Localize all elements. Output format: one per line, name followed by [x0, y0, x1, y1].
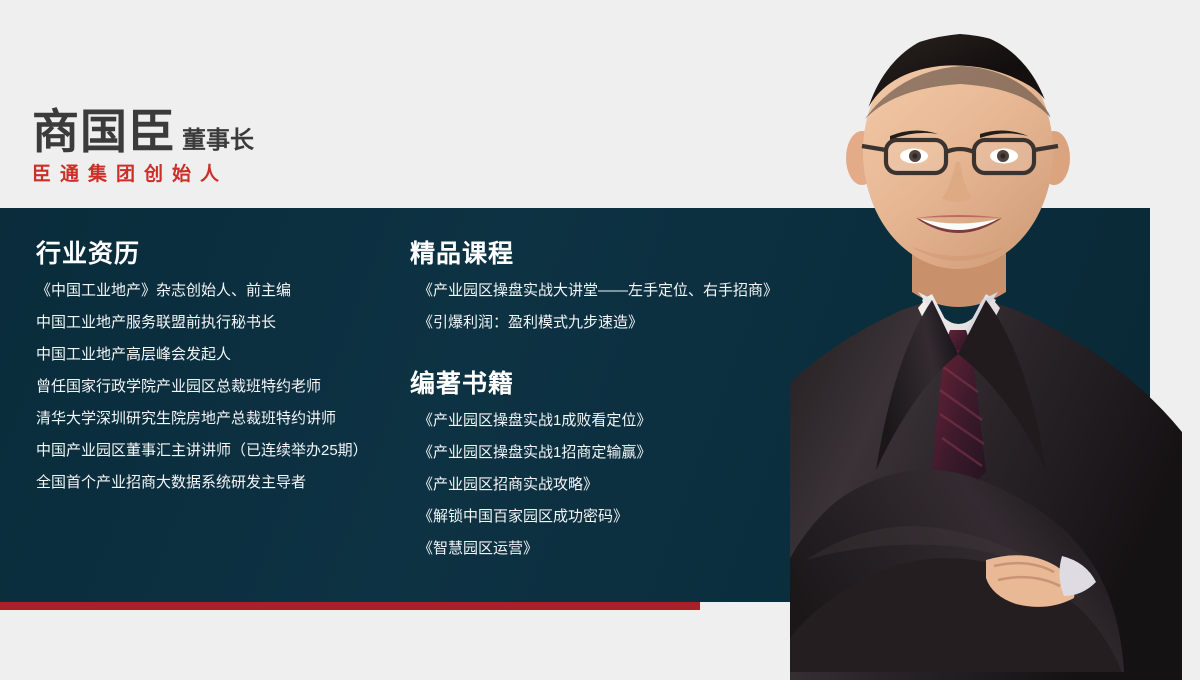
list-item: 《产业园区操盘实战大讲堂——左手定位、右手招商》 [410, 283, 820, 298]
name-block: 商国臣 董事长 臣通集团创始人 [32, 108, 452, 184]
list-item: 曾任国家行政学院产业园区总裁班特约老师 [36, 379, 400, 394]
info-panel: 行业资历 《中国工业地产》杂志创始人、前主编 中国工业地产服务联盟前执行秘书长 … [0, 208, 1150, 602]
list-item: 《中国工业地产》杂志创始人、前主编 [36, 283, 400, 298]
list-item: 《智慧园区运营》 [410, 541, 820, 556]
courses-list: 《产业园区操盘实战大讲堂——左手定位、右手招商》 《引爆利润：盈利模式九步速造》 [410, 283, 820, 330]
list-item: 中国工业地产服务联盟前执行秘书长 [36, 315, 400, 330]
list-item: 《产业园区招商实战攻略》 [410, 477, 820, 492]
books-list: 《产业园区操盘实战1成败看定位》 《产业园区操盘实战1招商定输赢》 《产业园区招… [410, 413, 820, 556]
list-item: 中国工业地产高层峰会发起人 [36, 347, 400, 362]
credentials-heading: 行业资历 [36, 234, 400, 270]
column-courses-books: 精品课程 《产业园区操盘实战大讲堂——左手定位、右手招商》 《引爆利润：盈利模式… [400, 208, 820, 602]
list-item: 《产业园区操盘实战1招商定输赢》 [410, 445, 820, 460]
courses-heading: 精品课程 [410, 234, 820, 270]
person-name: 商国臣 [32, 108, 176, 155]
list-item: 《产业园区操盘实战1成败看定位》 [410, 413, 820, 428]
company-founder-subtitle: 臣通集团创始人 [32, 165, 452, 184]
list-item: 《解锁中国百家园区成功密码》 [410, 509, 820, 524]
list-item: 中国产业园区董事汇主讲讲师（已连续举办25期） [36, 443, 400, 458]
name-row: 商国臣 董事长 [32, 108, 452, 155]
panel-columns: 行业资历 《中国工业地产》杂志创始人、前主编 中国工业地产服务联盟前执行秘书长 … [0, 208, 820, 602]
books-heading: 编著书籍 [410, 364, 820, 400]
list-item: 全国首个产业招商大数据系统研发主导者 [36, 475, 400, 490]
credentials-list: 《中国工业地产》杂志创始人、前主编 中国工业地产服务联盟前执行秘书长 中国工业地… [36, 283, 400, 490]
person-role-title: 董事长 [182, 129, 254, 153]
banner-stage: 商国臣 董事长 臣通集团创始人 行业资历 《中国工业地产》杂志创始人、前主编 中… [0, 0, 1200, 680]
column-credentials: 行业资历 《中国工业地产》杂志创始人、前主编 中国工业地产服务联盟前执行秘书长 … [0, 208, 400, 602]
list-item: 《引爆利润：盈利模式九步速造》 [410, 315, 820, 330]
list-item: 清华大学深圳研究生院房地产总裁班特约讲师 [36, 411, 400, 426]
